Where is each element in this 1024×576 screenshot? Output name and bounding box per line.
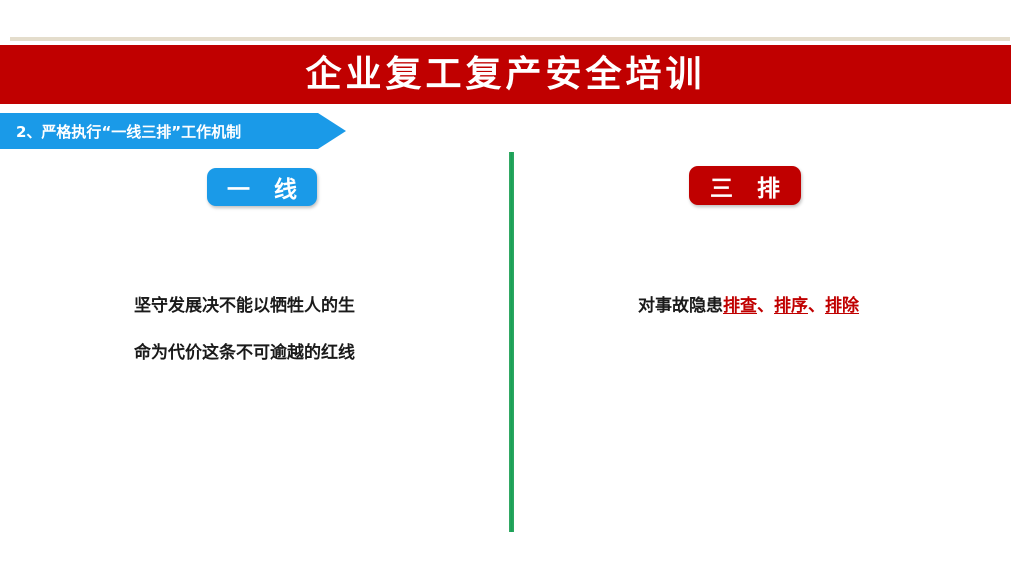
slide-canvas: 企业复工复产安全培训 2、严格执行“一线三排”工作机制 一 线 三 排 坚守发展…: [0, 0, 1024, 576]
right-body-separator-1: 、: [757, 296, 774, 316]
pill-right-sanpai: 三 排: [689, 166, 801, 205]
green-vertical-divider: [509, 152, 514, 532]
section-banner-label: 2、严格执行“一线三排”工作机制: [16, 113, 241, 149]
right-body-highlight-1: 排查: [723, 296, 757, 316]
page-title: 企业复工复产安全培训: [0, 45, 1011, 104]
left-body-line-2: 命为代价这条不可逾越的红线: [134, 330, 355, 377]
right-body-highlight-2: 排序: [774, 296, 808, 316]
left-body-line-1: 坚守发展决不能以牺牲人的生: [134, 283, 355, 330]
right-body-line-1: 对事故隐患排查、排序、排除: [638, 283, 859, 330]
right-body-highlight-3: 排除: [825, 296, 859, 316]
title-bar: 企业复工复产安全培训: [0, 45, 1011, 104]
left-column-body: 坚守发展决不能以牺牲人的生 命为代价这条不可逾越的红线: [134, 283, 355, 377]
header-rule-divider: [10, 37, 1010, 41]
right-column-body: 对事故隐患排查、排序、排除: [638, 283, 859, 330]
pill-left-yixian: 一 线: [207, 168, 317, 206]
right-body-plain-text: 对事故隐患: [638, 296, 723, 316]
section-banner: 2、严格执行“一线三排”工作机制: [0, 113, 346, 149]
right-body-separator-2: 、: [808, 296, 825, 316]
